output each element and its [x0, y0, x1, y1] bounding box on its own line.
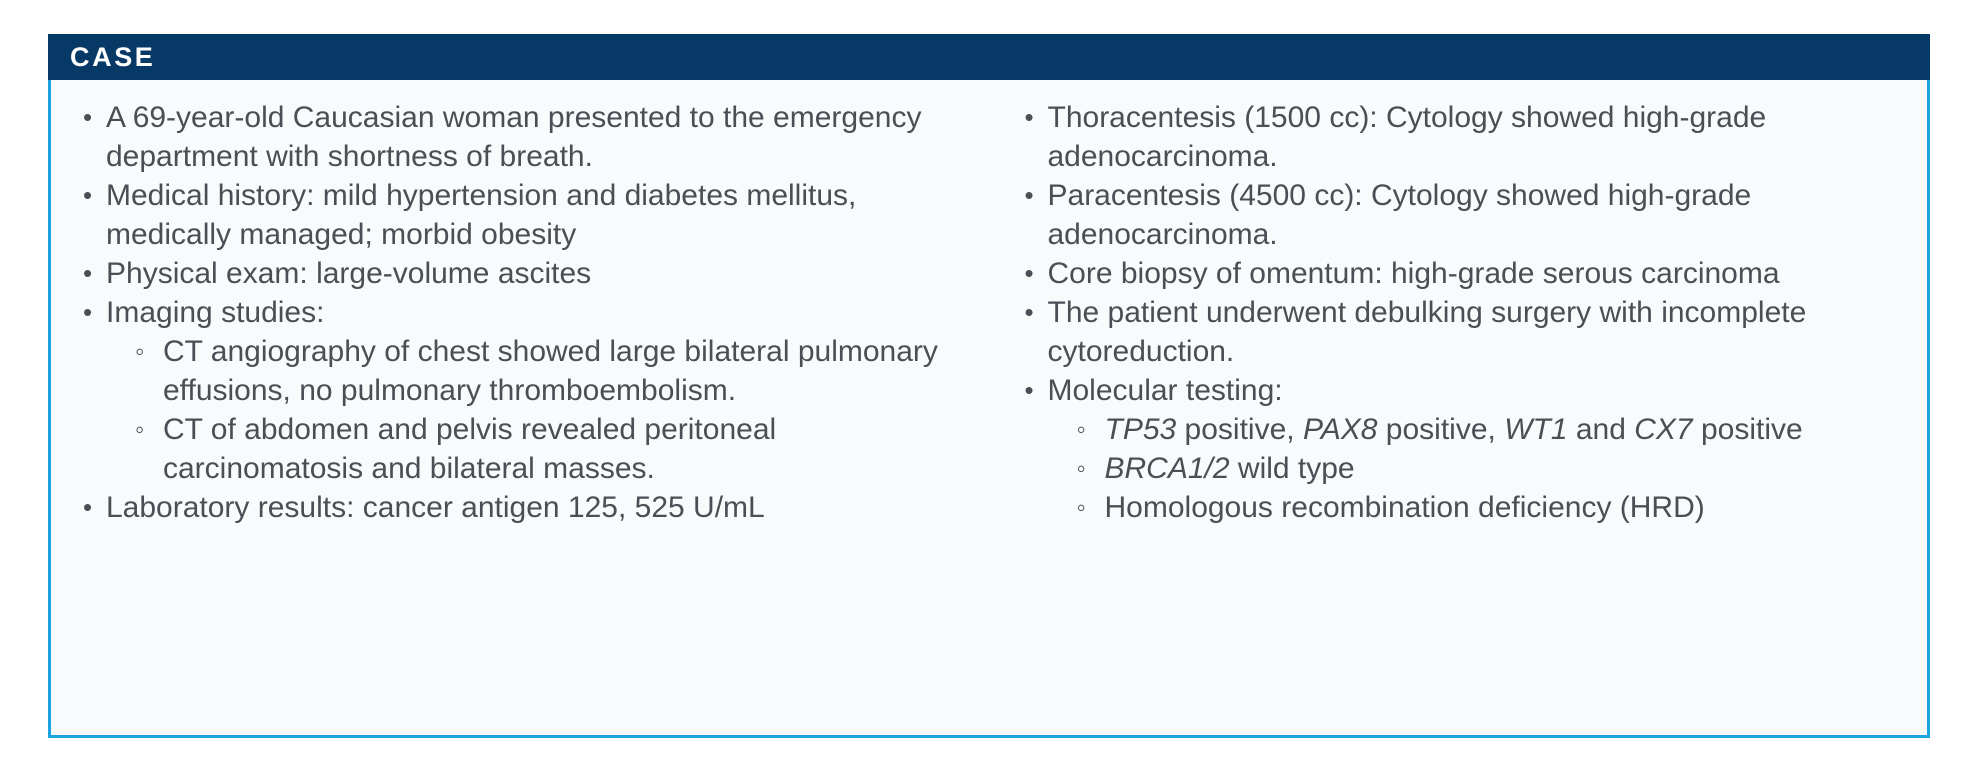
- list-item: Laboratory results: cancer antigen 125, …: [73, 488, 985, 527]
- list-item: Medical history: mild hypertension and d…: [73, 176, 985, 254]
- left-sub-bullet-list: CT angiography of chest showed large bil…: [106, 332, 985, 488]
- case-card: CASE A 69-year-old Caucasian woman prese…: [48, 34, 1930, 738]
- list-item: Thoracentesis (1500 cc): Cytology showed…: [1015, 98, 1918, 176]
- molecular-text: and: [1568, 413, 1635, 446]
- list-item: CT of abdomen and pelvis revealed perito…: [129, 410, 985, 488]
- right-bullet-list: Thoracentesis (1500 cc): Cytology showed…: [1015, 98, 1918, 527]
- list-item: Homologous recombination deficiency (HRD…: [1071, 488, 1918, 527]
- list-item: CT angiography of chest showed large bil…: [129, 332, 985, 410]
- gene-name-cx7: CX7: [1634, 413, 1692, 446]
- case-body: A 69-year-old Caucasian woman presented …: [48, 80, 1930, 738]
- page-root: CASE A 69-year-old Caucasian woman prese…: [0, 0, 1982, 780]
- case-header: CASE: [48, 34, 1930, 80]
- list-item: Imaging studies: CT angiography of chest…: [73, 293, 985, 488]
- case-left-column: A 69-year-old Caucasian woman presented …: [51, 98, 995, 527]
- case-header-title: CASE: [70, 44, 155, 71]
- list-item: TP53 positive, PAX8 positive, WT1 and CX…: [1071, 410, 1918, 449]
- list-item-label: Imaging studies:: [106, 296, 324, 329]
- left-bullet-list: A 69-year-old Caucasian woman presented …: [73, 98, 985, 527]
- molecular-text: positive,: [1377, 413, 1504, 446]
- right-sub-bullet-list: TP53 positive, PAX8 positive, WT1 and CX…: [1048, 410, 1918, 527]
- list-item: Physical exam: large-volume ascites: [73, 254, 985, 293]
- molecular-text: positive,: [1176, 413, 1303, 446]
- list-item: The patient underwent debulking surgery …: [1015, 293, 1918, 371]
- gene-name-pax8: PAX8: [1303, 413, 1378, 446]
- molecular-text: positive: [1693, 413, 1803, 446]
- list-item: Core biopsy of omentum: high-grade serou…: [1015, 254, 1918, 293]
- gene-name-wt1: WT1: [1504, 413, 1567, 446]
- case-right-column: Thoracentesis (1500 cc): Cytology showed…: [995, 98, 1928, 527]
- list-item: A 69-year-old Caucasian woman presented …: [73, 98, 985, 176]
- list-item: BRCA1/2 wild type: [1071, 449, 1918, 488]
- list-item: Paracentesis (4500 cc): Cytology showed …: [1015, 176, 1918, 254]
- molecular-text: wild type: [1230, 452, 1355, 485]
- gene-name-tp53: TP53: [1105, 413, 1177, 446]
- gene-name-brca: BRCA1/2: [1105, 452, 1230, 485]
- list-item-label: Molecular testing:: [1048, 374, 1283, 407]
- list-item: Molecular testing: TP53 positive, PAX8 p…: [1015, 371, 1918, 527]
